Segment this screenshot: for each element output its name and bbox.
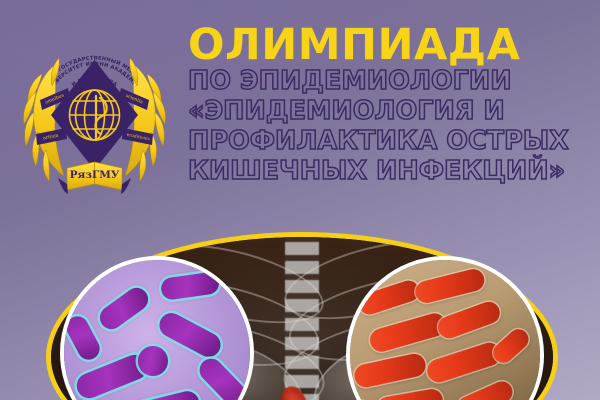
subtitle-line-2: «ЭПИДЕМИОЛОГИЯ И: [188, 98, 588, 125]
subtitle-line-4: КИШЕЧНЫХ ИНФЕКЦИЙ»: [188, 158, 588, 185]
university-emblem: РЯЗАНСКИЙ ГОСУДАРСТВЕННЫЙ МЕДИЦИНСКИЙ УН…: [12, 18, 177, 196]
red-bacteria-micrograph: [346, 256, 544, 400]
emblem-banner-text: РязГМУ: [70, 169, 120, 181]
title-block: ОЛИМПИАДА ПО ЭПИДЕМИОЛОГИИ «ЭПИДЕМИОЛОГИ…: [188, 24, 588, 185]
main-title: ОЛИМПИАДА: [188, 24, 588, 66]
purple-bacteria-micrograph: [60, 256, 254, 400]
olympiad-poster: РЯЗАНСКИЙ ГОСУДАРСТВЕННЫЙ МЕДИЦИНСКИЙ УН…: [0, 0, 600, 400]
subtitle-line-1: ПО ЭПИДЕМИОЛОГИИ: [188, 68, 588, 95]
subtitle-line-3: ПРОФИЛАКТИКА ОСТРЫХ: [188, 128, 588, 155]
image-composition: [46, 232, 558, 400]
emblem-book-banner: РязГМУ: [58, 162, 131, 194]
